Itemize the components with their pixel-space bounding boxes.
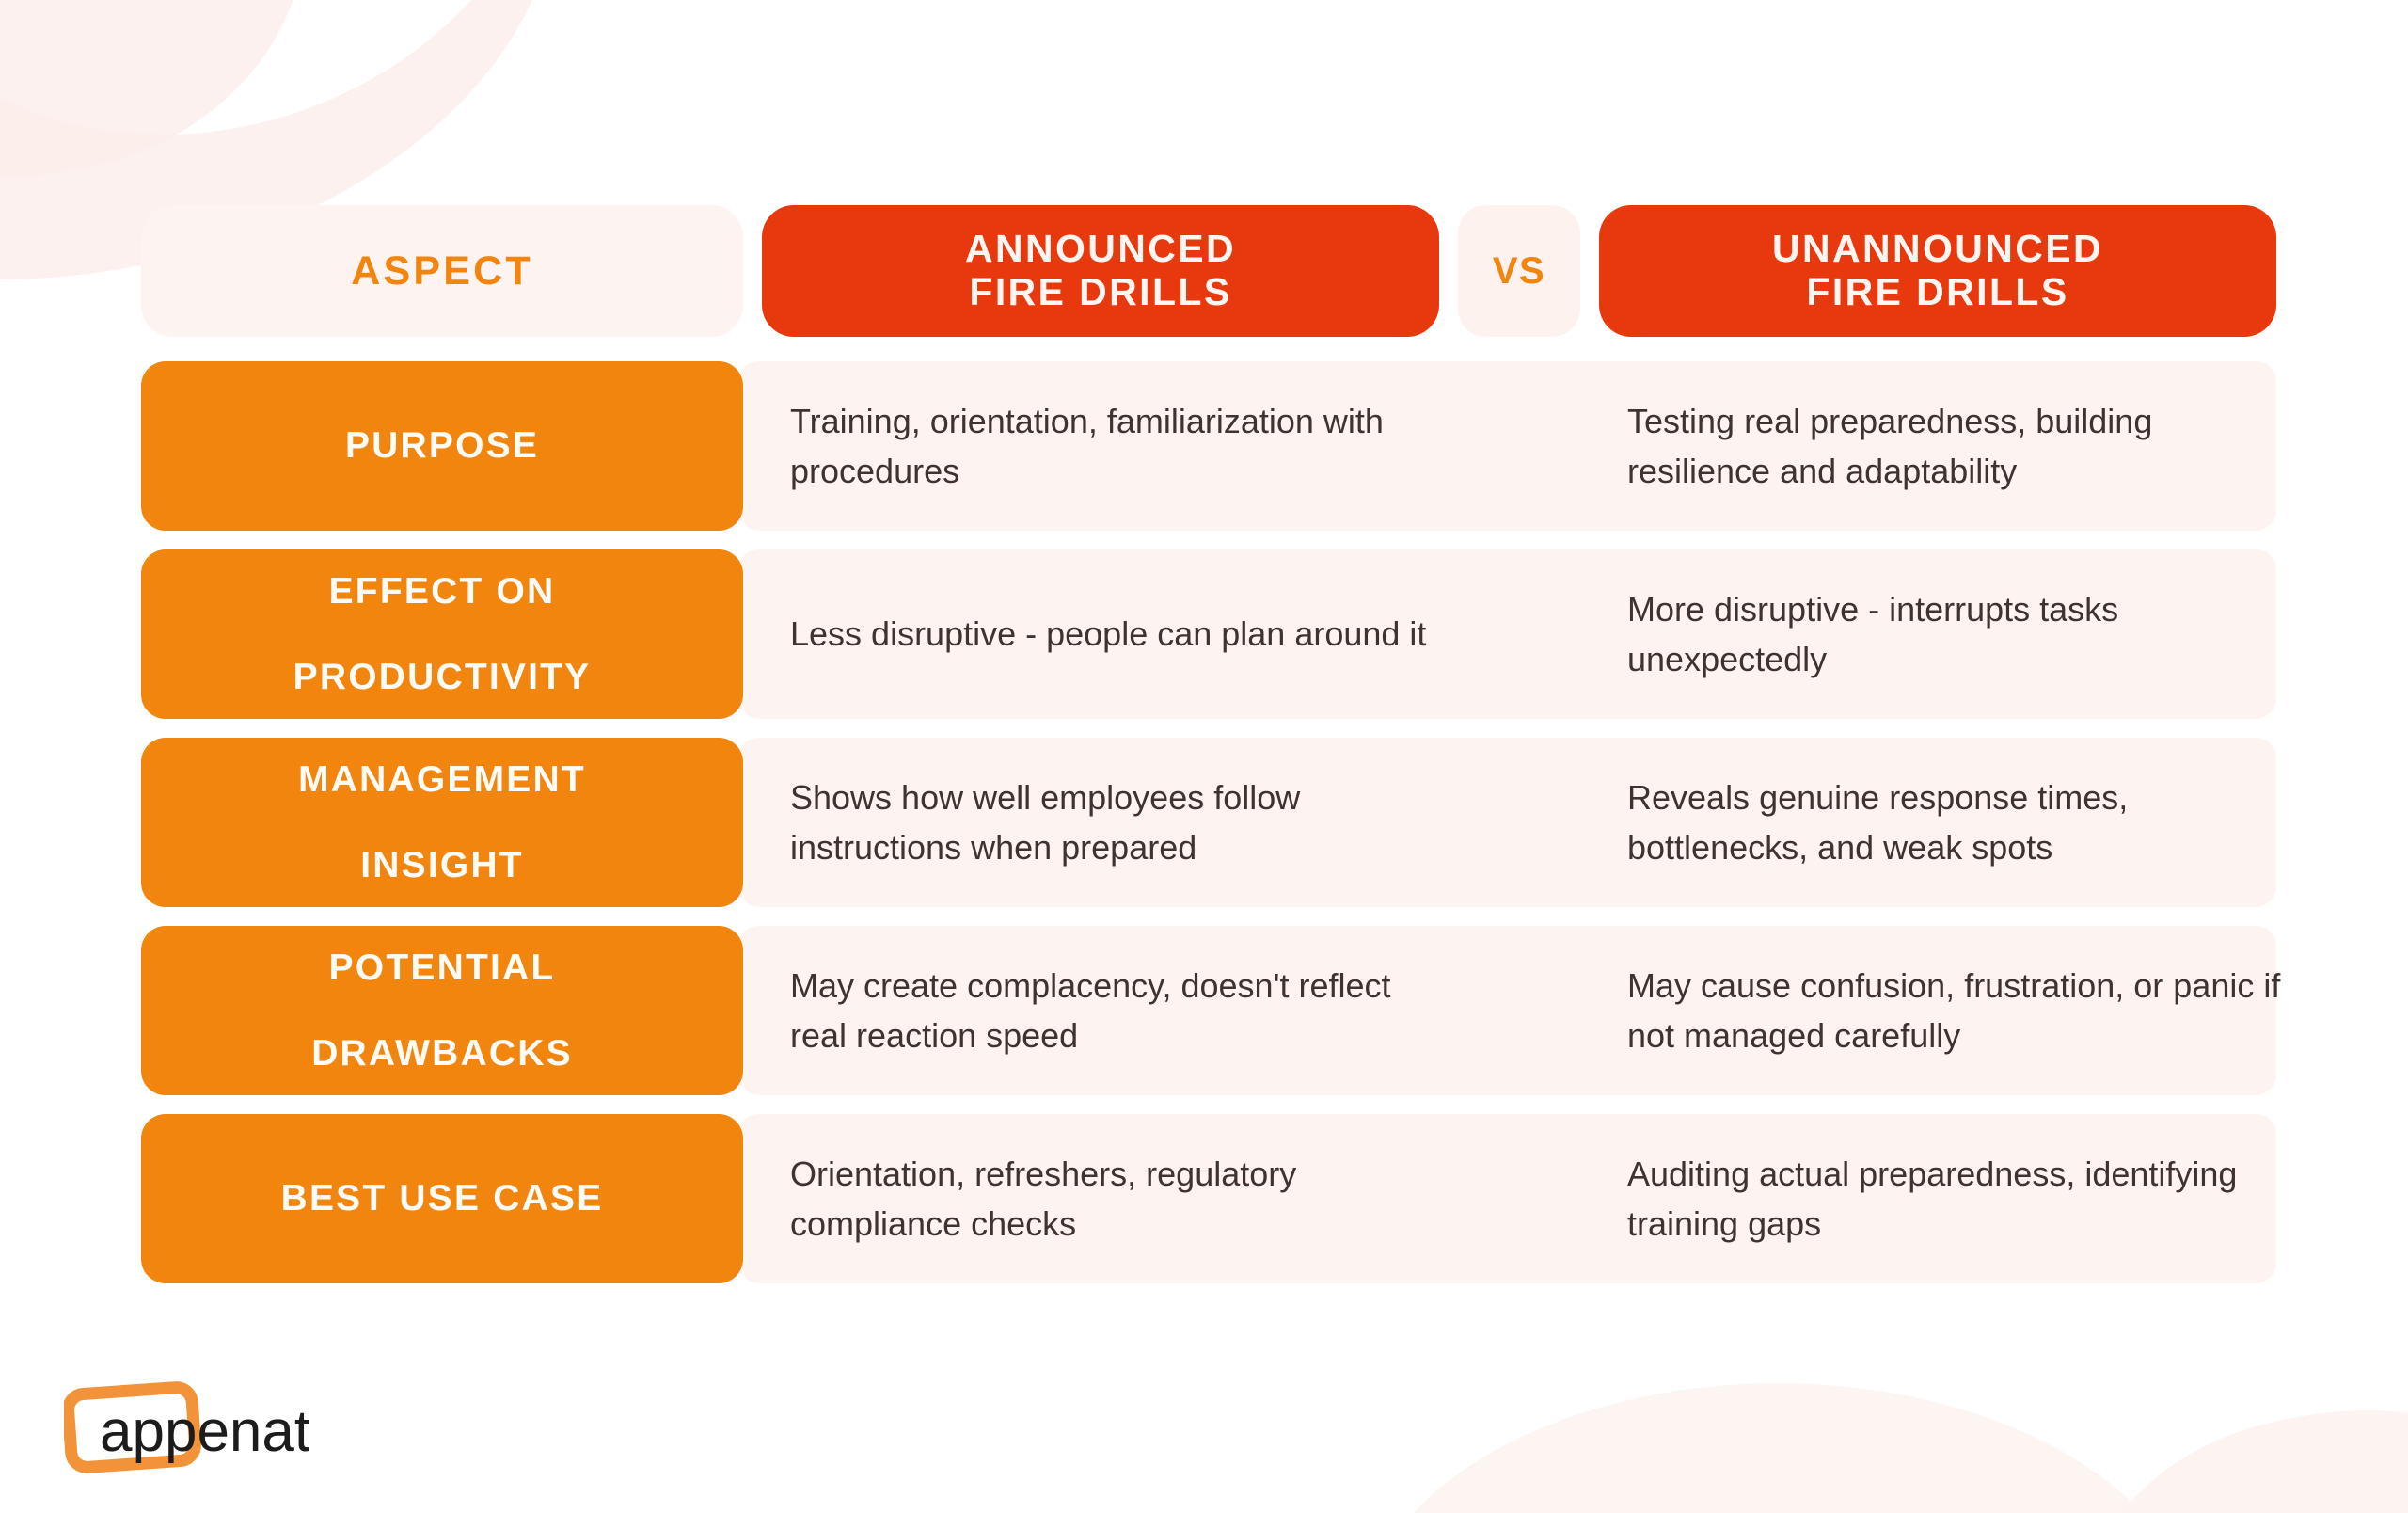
table-row: MANAGEMENTINSIGHT Shows how well employe… <box>141 738 2276 907</box>
table-row: POTENTIALDRAWBACKS May create complacenc… <box>141 926 2276 1095</box>
vs-badge: VS <box>1458 205 1580 337</box>
header-cell-aspect: ASPECT <box>141 205 743 337</box>
row-cell-unannounced: Auditing actual preparedness, identifyin… <box>1627 1114 2286 1283</box>
row-cell-announced-text: Shows how well employees follow instruct… <box>790 772 1430 873</box>
row-label-potential-drawbacks: POTENTIALDRAWBACKS <box>141 926 743 1095</box>
row-label-text: MANAGEMENTINSIGHT <box>298 758 586 886</box>
row-cell-announced: May create complacency, doesn't reflect … <box>790 926 1430 1095</box>
table-header-row: ASPECT ANNOUNCED FIRE DRILLS VS UNANNOUN… <box>141 205 2276 337</box>
row-cell-unannounced-text: May cause confusion, frustration, or pan… <box>1627 961 2286 1061</box>
row-cell-unannounced: May cause confusion, frustration, or pan… <box>1627 926 2286 1095</box>
header-aspect-label: ASPECT <box>351 248 533 295</box>
header-announced-line2: FIRE DRILLS <box>969 271 1231 314</box>
row-cell-announced-text: Less disruptive - people can plan around… <box>790 609 1426 659</box>
row-cell-unannounced-text: More disruptive - interrupts tasks unexp… <box>1627 584 2286 685</box>
row-cell-unannounced-text: Auditing actual preparedness, identifyin… <box>1627 1149 2286 1250</box>
row-label-effect-on-productivity: EFFECT ONPRODUCTIVITY <box>141 549 743 719</box>
row-cell-unannounced: Testing real preparedness, building resi… <box>1627 361 2286 531</box>
appenate-logo: appenate <box>64 1376 309 1479</box>
vs-label: VS <box>1493 250 1545 293</box>
row-label-text: EFFECT ONPRODUCTIVITY <box>293 570 592 698</box>
row-label-management-insight: MANAGEMENTINSIGHT <box>141 738 743 907</box>
row-label-best-use-case: BEST USE CASE <box>141 1114 743 1283</box>
row-cell-unannounced-text: Reveals genuine response times, bottlene… <box>1627 772 2286 873</box>
table-row: EFFECT ONPRODUCTIVITY Less disruptive - … <box>141 549 2276 719</box>
header-announced-line1: ANNOUNCED <box>965 228 1236 271</box>
row-label-purpose: PURPOSE <box>141 361 743 531</box>
row-cell-announced-text: May create complacency, doesn't reflect … <box>790 961 1430 1061</box>
row-cell-unannounced: Reveals genuine response times, bottlene… <box>1627 738 2286 907</box>
row-label-text: POTENTIALDRAWBACKS <box>311 947 573 1075</box>
infographic-canvas: ASPECT ANNOUNCED FIRE DRILLS VS UNANNOUN… <box>0 0 2408 1513</box>
row-label-text: BEST USE CASE <box>281 1177 604 1219</box>
header-unannounced-line2: FIRE DRILLS <box>1806 271 2068 314</box>
row-cell-announced-text: Orientation, refreshers, regulatory comp… <box>790 1149 1430 1250</box>
row-cell-announced: Shows how well employees follow instruct… <box>790 738 1430 907</box>
row-cell-announced-text: Training, orientation, familiarization w… <box>790 396 1430 497</box>
header-unannounced-line1: UNANNOUNCED <box>1772 228 2103 271</box>
row-label-text: PURPOSE <box>345 424 539 467</box>
logo-wordmark: appenate <box>100 1399 309 1464</box>
row-cell-unannounced: More disruptive - interrupts tasks unexp… <box>1627 549 2286 719</box>
row-cell-announced: Less disruptive - people can plan around… <box>790 549 1430 719</box>
row-cell-announced: Orientation, refreshers, regulatory comp… <box>790 1114 1430 1283</box>
header-cell-announced: ANNOUNCED FIRE DRILLS <box>762 205 1439 337</box>
table-row: BEST USE CASE Orientation, refreshers, r… <box>141 1114 2276 1283</box>
row-cell-announced: Training, orientation, familiarization w… <box>790 361 1430 531</box>
comparison-table: ASPECT ANNOUNCED FIRE DRILLS VS UNANNOUN… <box>0 0 2408 1513</box>
row-cell-unannounced-text: Testing real preparedness, building resi… <box>1627 396 2286 497</box>
table-row: PURPOSE Training, orientation, familiari… <box>141 361 2276 531</box>
header-cell-unannounced: UNANNOUNCED FIRE DRILLS <box>1599 205 2276 337</box>
